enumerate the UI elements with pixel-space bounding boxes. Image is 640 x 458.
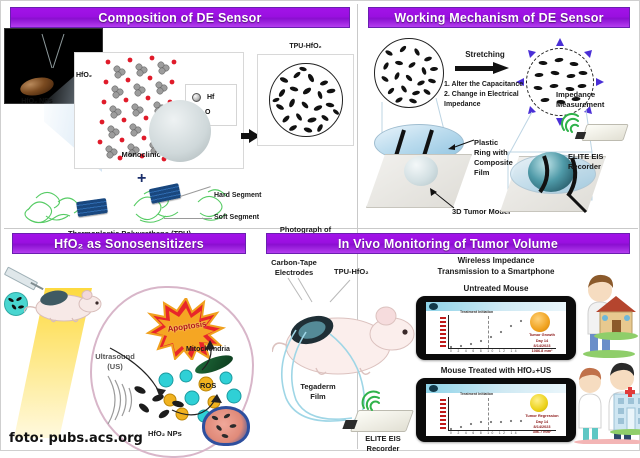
panel4-body: Carbon-Tape Electrodes TPU-HfO₂ <box>258 254 638 449</box>
impedance-line-1: Impedance <box>556 90 604 100</box>
recorder2-line-1: ELITE EIS <box>568 152 603 162</box>
wifi-icon <box>560 112 584 134</box>
wireless-line-1: Wireless Impedance <box>406 256 586 267</box>
graphical-abstract-figure: Composition of DE Sensor HfO₂ NPs <box>0 0 640 451</box>
tegaderm-line-1: Tegaderm <box>288 382 348 392</box>
panel-composition: Composition of DE Sensor HfO₂ NPs <box>4 4 356 226</box>
recorder2-line-2: Recorder <box>568 162 603 172</box>
recorder4-line-1: ELITE EIS <box>350 434 416 444</box>
soft-segment-label: Soft Segment <box>214 214 259 222</box>
recorder4-line-2: Recorder <box>350 444 416 454</box>
plastic-ring-line-3: Composite <box>474 158 513 168</box>
legend-row-hf: Hf <box>192 93 214 102</box>
eis-recorder-device-panel4 <box>350 410 414 432</box>
panel1-title-bar: Composition of DE Sensor <box>10 7 350 28</box>
wireless-transmission-heading: Wireless Impedance Transmission to a Sma… <box>406 256 586 278</box>
phone1-app-icon[interactable] <box>429 303 438 310</box>
phone2-readout: Day 14 8/14/2023 356.7 mm³ <box>520 420 564 435</box>
phone2-annotation: Treatment Initiation <box>460 392 493 396</box>
panel-working-mechanism: Working Mechanism of DE Sensor <box>360 4 638 226</box>
plastic-ring-label: Plastic Ring with Composite Film <box>474 138 513 179</box>
phone2-badge-text: Tumor Regression <box>520 414 564 418</box>
eis-recorder-device <box>581 124 629 141</box>
film-disc <box>149 100 211 162</box>
impedance-measurement-label: Impedance Measurement <box>556 90 604 110</box>
tegaderm-line-2: Film <box>288 392 348 402</box>
sem-particles-svg <box>270 64 342 136</box>
sem-disc <box>269 63 343 137</box>
leader-plastic-ring-svg <box>446 136 476 150</box>
hf-sphere-icon <box>192 93 201 102</box>
phone1-badge-text: Tumor Growth <box>522 333 562 337</box>
phone1-heading: Untreated Mouse <box>406 284 586 293</box>
tumor-nps-svg <box>205 409 247 443</box>
phone1-tumor-badge-icon <box>530 312 550 332</box>
panel2-body: Stretching 1. Alter the Capacitance 2. C… <box>360 28 638 226</box>
panel2-title-text: Working Mechanism of DE Sensor <box>394 11 603 25</box>
phone2-tumor-badge-icon <box>530 394 548 412</box>
sem-image-box <box>257 54 354 146</box>
tumor-hemisphere-left <box>404 156 438 186</box>
panel1-body: HfO₂ NPs <box>4 28 356 226</box>
smartphone-treated[interactable]: Treatment Initiation 0 2 4 6 8 10 12 14 … <box>416 378 576 442</box>
leader-tumor-model-svg <box>426 188 456 212</box>
phone2-screen[interactable]: Treatment Initiation 0 2 4 6 8 10 12 14 … <box>426 384 566 436</box>
house-illustration <box>594 294 638 345</box>
house-svg <box>594 294 638 340</box>
phone1-status-bar <box>426 302 566 311</box>
panel3-body: Apoptosis Mitochondria <box>4 254 254 449</box>
plastic-ring-line-4: Film <box>474 168 513 178</box>
plastic-ring-line-2: Ring with <box>474 148 513 158</box>
phone2-status-bar <box>426 384 566 393</box>
phone1-screen[interactable]: Treatment Initiation 0 2 4 6 8 10 12 14 … <box>426 302 566 354</box>
film-tweezer-lines-svg <box>4 28 99 100</box>
smartphone-untreated[interactable]: Treatment Initiation 0 2 4 6 8 10 12 14 … <box>416 296 576 360</box>
phone2-readout-line-3: 356.7 mm³ <box>520 430 564 435</box>
panel4-title-text: In Vivo Monitoring of Tumor Volume <box>338 237 558 251</box>
recorder-label-panel2: ELITE EIS Recorder <box>568 152 603 172</box>
phone1-readout-line-3: 1086.8 mm³ <box>522 349 562 354</box>
phone2-x-ticklabels: 0 2 4 6 8 10 12 14 <box>450 431 519 435</box>
wifi-icon-panel4 <box>360 388 386 412</box>
tumor-cross-section-icon <box>202 406 250 446</box>
phone2-heading: Mouse Treated with HfO₂+US <box>398 366 594 375</box>
panel2-title-bar: Working Mechanism of DE Sensor <box>368 7 630 28</box>
hard-segment-label: Hard Segment <box>214 192 261 200</box>
panel4-title-bar: In Vivo Monitoring of Tumor Volume <box>266 233 630 254</box>
leader-soft-segment <box>164 218 212 219</box>
phone1-x-ticklabels: 0 2 4 6 8 10 12 14 <box>450 349 519 353</box>
plastic-ring-line-1: Plastic <box>474 138 513 148</box>
hospital-illustration <box>610 386 640 441</box>
panel1-title-text: Composition of DE Sensor <box>98 11 261 25</box>
hospital-svg <box>610 386 640 436</box>
panel-sonosensitizers: HfO₂ as Sonosensitizers <box>4 230 254 449</box>
phone1-annotation: Treatment Initiation <box>460 310 493 314</box>
panel3-title-bar: HfO₂ as Sonosensitizers <box>12 233 246 254</box>
panel-in-vivo-monitoring: In Vivo Monitoring of Tumor Volume Carbo… <box>258 230 638 449</box>
composite-label: TPU-HfO₂ <box>257 43 354 51</box>
tegaderm-label: Tegaderm Film <box>288 382 348 402</box>
impedance-line-2: Measurement <box>556 100 604 110</box>
legend-label-hf: Hf <box>207 94 214 101</box>
phone1-readout: Day 14 8/14/2023 1086.8 mm³ <box>522 339 562 354</box>
phone2-app-icon[interactable] <box>429 385 438 392</box>
source-credit: foto: pubs.acs.org <box>9 431 143 446</box>
panel3-title-text: HfO₂ as Sonosensitizers <box>54 237 204 251</box>
composite-film-photo <box>4 28 103 104</box>
wireless-line-2: Transmission to a Smartphone <box>406 267 586 278</box>
